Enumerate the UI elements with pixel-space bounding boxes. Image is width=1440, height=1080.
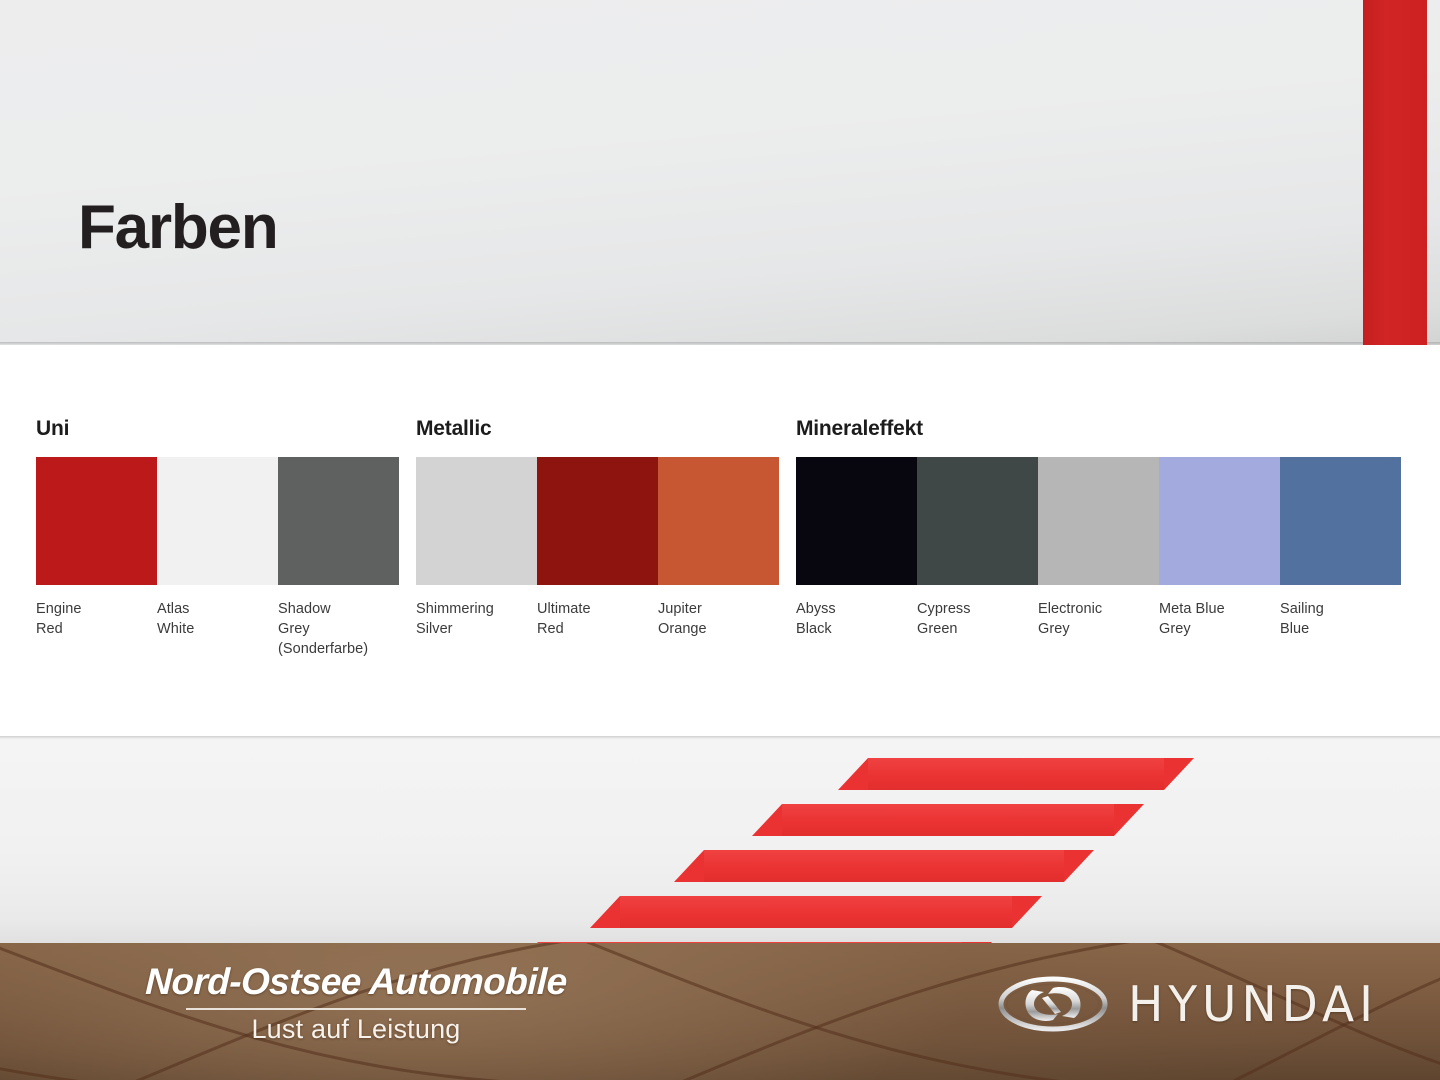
lower-graphic-band: [0, 736, 1440, 944]
swatch-chip: [278, 457, 399, 585]
dealer-tagline: Lust auf Leistung: [66, 1014, 646, 1045]
swatch-chip: [1280, 457, 1401, 585]
color-group-metallic: Metallic Shimmering Silver Ultimate Red …: [416, 417, 796, 639]
swatch-label: Abyss Black: [796, 599, 917, 639]
page-title: Farben: [78, 197, 278, 259]
slide-root: Farben Uni Engine Red Atlas White: [0, 0, 1440, 1080]
color-groups: Uni Engine Red Atlas White Shadow Grey (…: [36, 417, 1404, 659]
swatch-atlas-white[interactable]: Atlas White: [157, 457, 278, 659]
swatch-label: Sailing Blue: [1280, 599, 1401, 639]
swatch-chip: [36, 457, 157, 585]
swatch-abyss-black[interactable]: Abyss Black: [796, 457, 917, 639]
swatch-chip: [1038, 457, 1159, 585]
swatch-shadow-grey[interactable]: Shadow Grey (Sonderfarbe): [278, 457, 399, 659]
swatch-engine-red[interactable]: Engine Red: [36, 457, 157, 659]
swatch-row-mineraleffekt: Abyss Black Cypress Green Electronic Gre…: [796, 457, 1404, 639]
swatch-jupiter-orange[interactable]: Jupiter Orange: [658, 457, 779, 639]
hyundai-logo: HYUNDAI: [998, 976, 1378, 1032]
red-stripe-1: [868, 758, 1164, 790]
swatch-chip: [796, 457, 917, 585]
swatch-label: Electronic Grey: [1038, 599, 1159, 639]
red-stripe-2: [782, 804, 1114, 836]
swatch-row-metallic: Shimmering Silver Ultimate Red Jupiter O…: [416, 457, 796, 639]
footer-bar: Nord-Ostsee Automobile Lust auf Leistung: [0, 943, 1440, 1080]
header-red-accent-bar: [1363, 0, 1427, 345]
swatch-label: Shadow Grey (Sonderfarbe): [278, 599, 399, 659]
swatch-cypress-green[interactable]: Cypress Green: [917, 457, 1038, 639]
swatch-sailing-blue[interactable]: Sailing Blue: [1280, 457, 1401, 639]
swatch-meta-blue-grey[interactable]: Meta Blue Grey: [1159, 457, 1280, 639]
group-title-metallic: Metallic: [416, 417, 796, 443]
color-group-uni: Uni Engine Red Atlas White Shadow Grey (…: [36, 417, 416, 659]
dealer-name: Nord-Ostsee Automobile: [65, 961, 646, 1003]
swatch-chip: [1159, 457, 1280, 585]
swatch-chip: [917, 457, 1038, 585]
swatch-label: Cypress Green: [917, 599, 1038, 639]
color-group-mineraleffekt: Mineraleffekt Abyss Black Cypress Green …: [796, 417, 1404, 639]
red-stripe-3: [704, 850, 1064, 882]
content-area: Uni Engine Red Atlas White Shadow Grey (…: [0, 345, 1440, 736]
swatch-chip: [157, 457, 278, 585]
hyundai-wordmark: HYUNDAI: [1128, 975, 1378, 1033]
dealer-logo: Nord-Ostsee Automobile Lust auf Leistung: [66, 961, 646, 1045]
swatch-ultimate-red[interactable]: Ultimate Red: [537, 457, 658, 639]
swatch-shimmering-silver[interactable]: Shimmering Silver: [416, 457, 537, 639]
swatch-label: Meta Blue Grey: [1159, 599, 1280, 639]
group-title-uni: Uni: [36, 417, 416, 443]
swatch-row-uni: Engine Red Atlas White Shadow Grey (Sond…: [36, 457, 416, 659]
swatch-electronic-grey[interactable]: Electronic Grey: [1038, 457, 1159, 639]
swatch-label: Jupiter Orange: [658, 599, 779, 639]
header-band: Farben: [0, 0, 1440, 345]
swatch-label: Atlas White: [157, 599, 278, 639]
red-stripe-4: [620, 896, 1012, 928]
group-title-mineraleffekt: Mineraleffekt: [796, 417, 1404, 443]
swatch-chip: [537, 457, 658, 585]
swatch-label: Engine Red: [36, 599, 157, 639]
hyundai-emblem-icon: [998, 976, 1108, 1032]
dealer-divider: [186, 1008, 526, 1010]
swatch-label: Shimmering Silver: [416, 599, 537, 639]
swatch-chip: [658, 457, 779, 585]
swatch-label: Ultimate Red: [537, 599, 658, 639]
swatch-chip: [416, 457, 537, 585]
